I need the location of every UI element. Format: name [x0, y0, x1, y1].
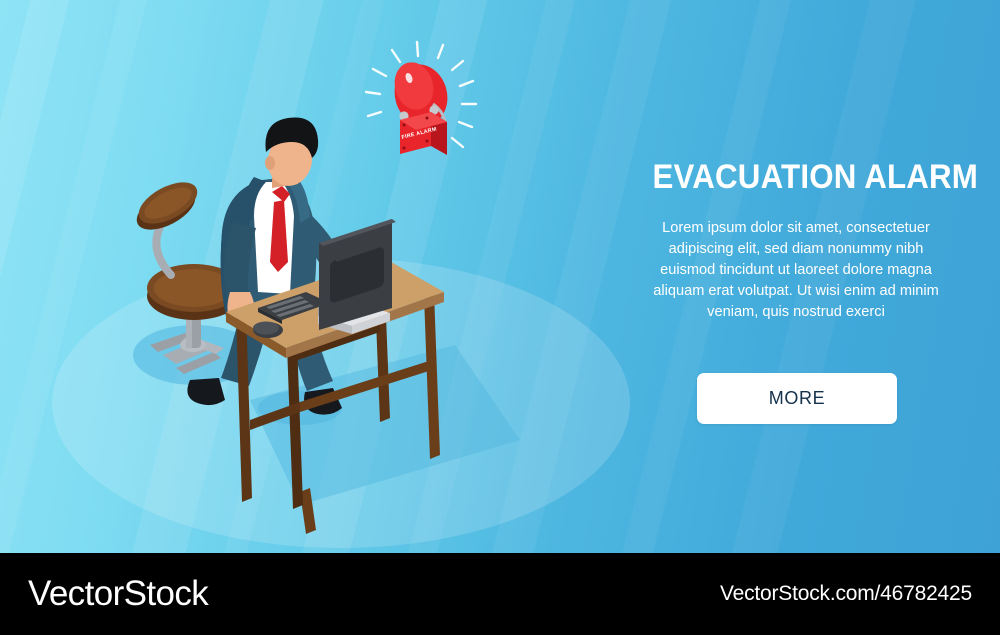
banner-text-panel: EVACUATION ALARM Lorem ipsum dolor sit a… [640, 160, 952, 323]
alarm-box-screw [403, 147, 406, 150]
vectorstock-logo: VectorStock [28, 574, 208, 614]
screenshot-stage: FIRE ALARM [0, 0, 1000, 635]
chair-backrest-post [156, 227, 171, 275]
banner-illustration-area: FIRE ALARM [0, 0, 1000, 553]
ear [265, 156, 275, 170]
shoe-left [187, 378, 225, 405]
computer-monitor [318, 219, 396, 334]
more-button[interactable]: MORE [697, 373, 897, 424]
computer-mouse-top [253, 322, 279, 335]
vectorstock-credit-url: VectorStock.com/46782425 [720, 582, 972, 606]
alarm-box-screw [426, 140, 429, 143]
vectorstock-watermark-footer: VectorStock VectorStock.com/46782425 [0, 553, 1000, 635]
fire-alarm-bell: FIRE ALARM [366, 42, 476, 155]
body-paragraph: Lorem ipsum dolor sit amet, consectetuer… [640, 218, 952, 323]
page-title: EVACUATION ALARM [652, 160, 939, 196]
alarm-box-screw [426, 117, 429, 120]
alarm-box-screw [403, 124, 406, 127]
